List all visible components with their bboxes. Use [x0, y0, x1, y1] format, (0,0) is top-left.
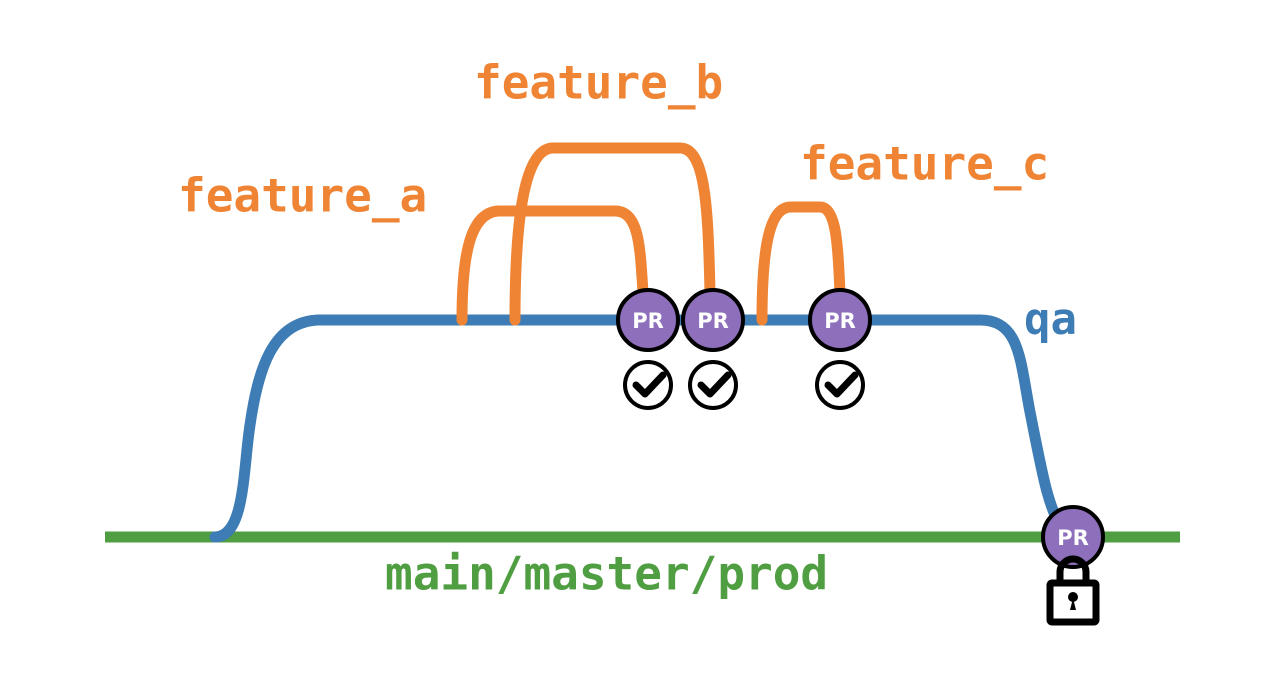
feature-c-label: feature_c — [800, 137, 1049, 191]
pr-node-feature-b[interactable]: PR — [683, 290, 743, 350]
feature-a-branch-line — [462, 211, 643, 320]
check-circle-icon — [625, 362, 671, 408]
qa-branch-line — [215, 320, 1062, 537]
qa-branch-label: qa — [1024, 294, 1077, 345]
pr-node-label: PR — [632, 309, 664, 333]
pr-node-label: PR — [697, 309, 729, 333]
git-branching-diagram: PR PR PR PR — [0, 0, 1288, 678]
feature-a-label: feature_a — [178, 169, 427, 223]
check-circle-icon — [690, 362, 736, 408]
git-flow-canvas: PR PR PR PR — [0, 0, 1288, 678]
pr-node-label: PR — [824, 309, 856, 333]
feature-b-label: feature_b — [474, 56, 723, 110]
pr-node-label: PR — [1057, 526, 1089, 550]
main-branch-label: main/master/prod — [385, 547, 828, 601]
check-circle-icon — [817, 362, 863, 408]
pr-node-feature-c[interactable]: PR — [810, 290, 870, 350]
pr-node-feature-a[interactable]: PR — [618, 290, 678, 350]
feature-b-branch-line — [515, 148, 710, 320]
